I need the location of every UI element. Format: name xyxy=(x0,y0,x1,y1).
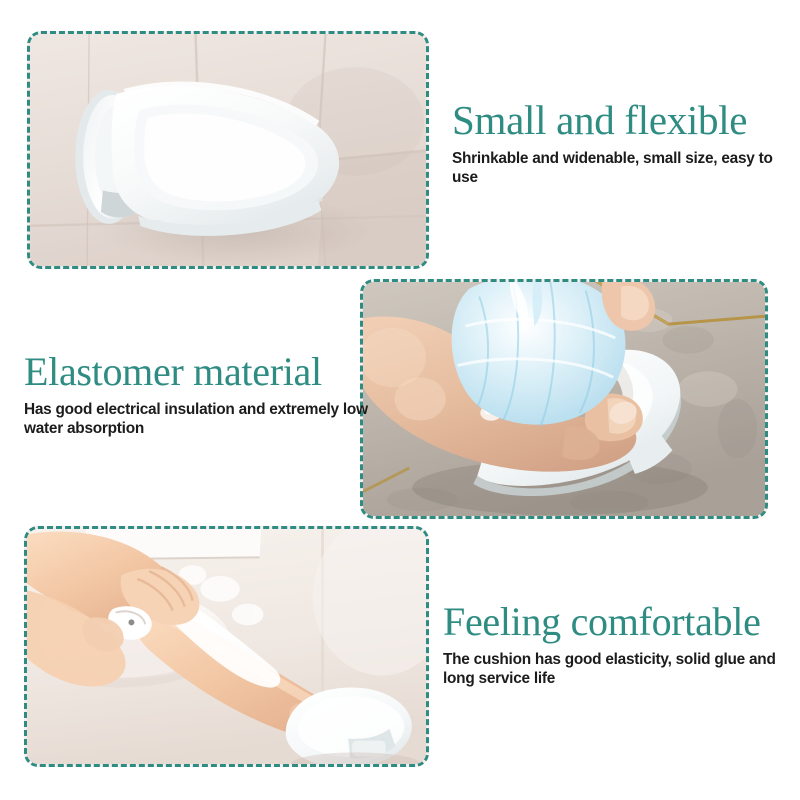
woman-shaving-leg-with-foot-on-step-illustration xyxy=(27,529,426,764)
feature-body-feeling-comfortable: The cushion has good elasticity, solid g… xyxy=(443,651,793,689)
feature-text-elastomer-material: Elastomer material Has good electrical i… xyxy=(24,352,369,439)
feature-image-elastomer-material xyxy=(360,279,768,519)
foot-on-step-with-blue-loofah-illustration xyxy=(363,282,765,516)
feature-body-elastomer-material: Has good electrical insulation and extre… xyxy=(24,401,369,439)
feature-text-feeling-comfortable: Feeling comfortable The cushion has good… xyxy=(443,602,793,689)
feature-image-feeling-comfortable xyxy=(24,526,429,767)
feature-heading-feeling-comfortable: Feeling comfortable xyxy=(443,602,793,642)
feature-heading-elastomer-material: Elastomer material xyxy=(24,352,369,392)
product-infographic: Small and flexible Shrinkable and widena… xyxy=(0,0,800,800)
shower-foot-rest-mounted-on-tile-wall-illustration xyxy=(30,34,426,266)
feature-image-small-and-flexible xyxy=(27,31,429,269)
feature-text-small-and-flexible: Small and flexible Shrinkable and widena… xyxy=(452,100,792,188)
feature-body-small-and-flexible: Shrinkable and widenable, small size, ea… xyxy=(452,150,792,188)
feature-heading-small-and-flexible: Small and flexible xyxy=(452,100,792,141)
